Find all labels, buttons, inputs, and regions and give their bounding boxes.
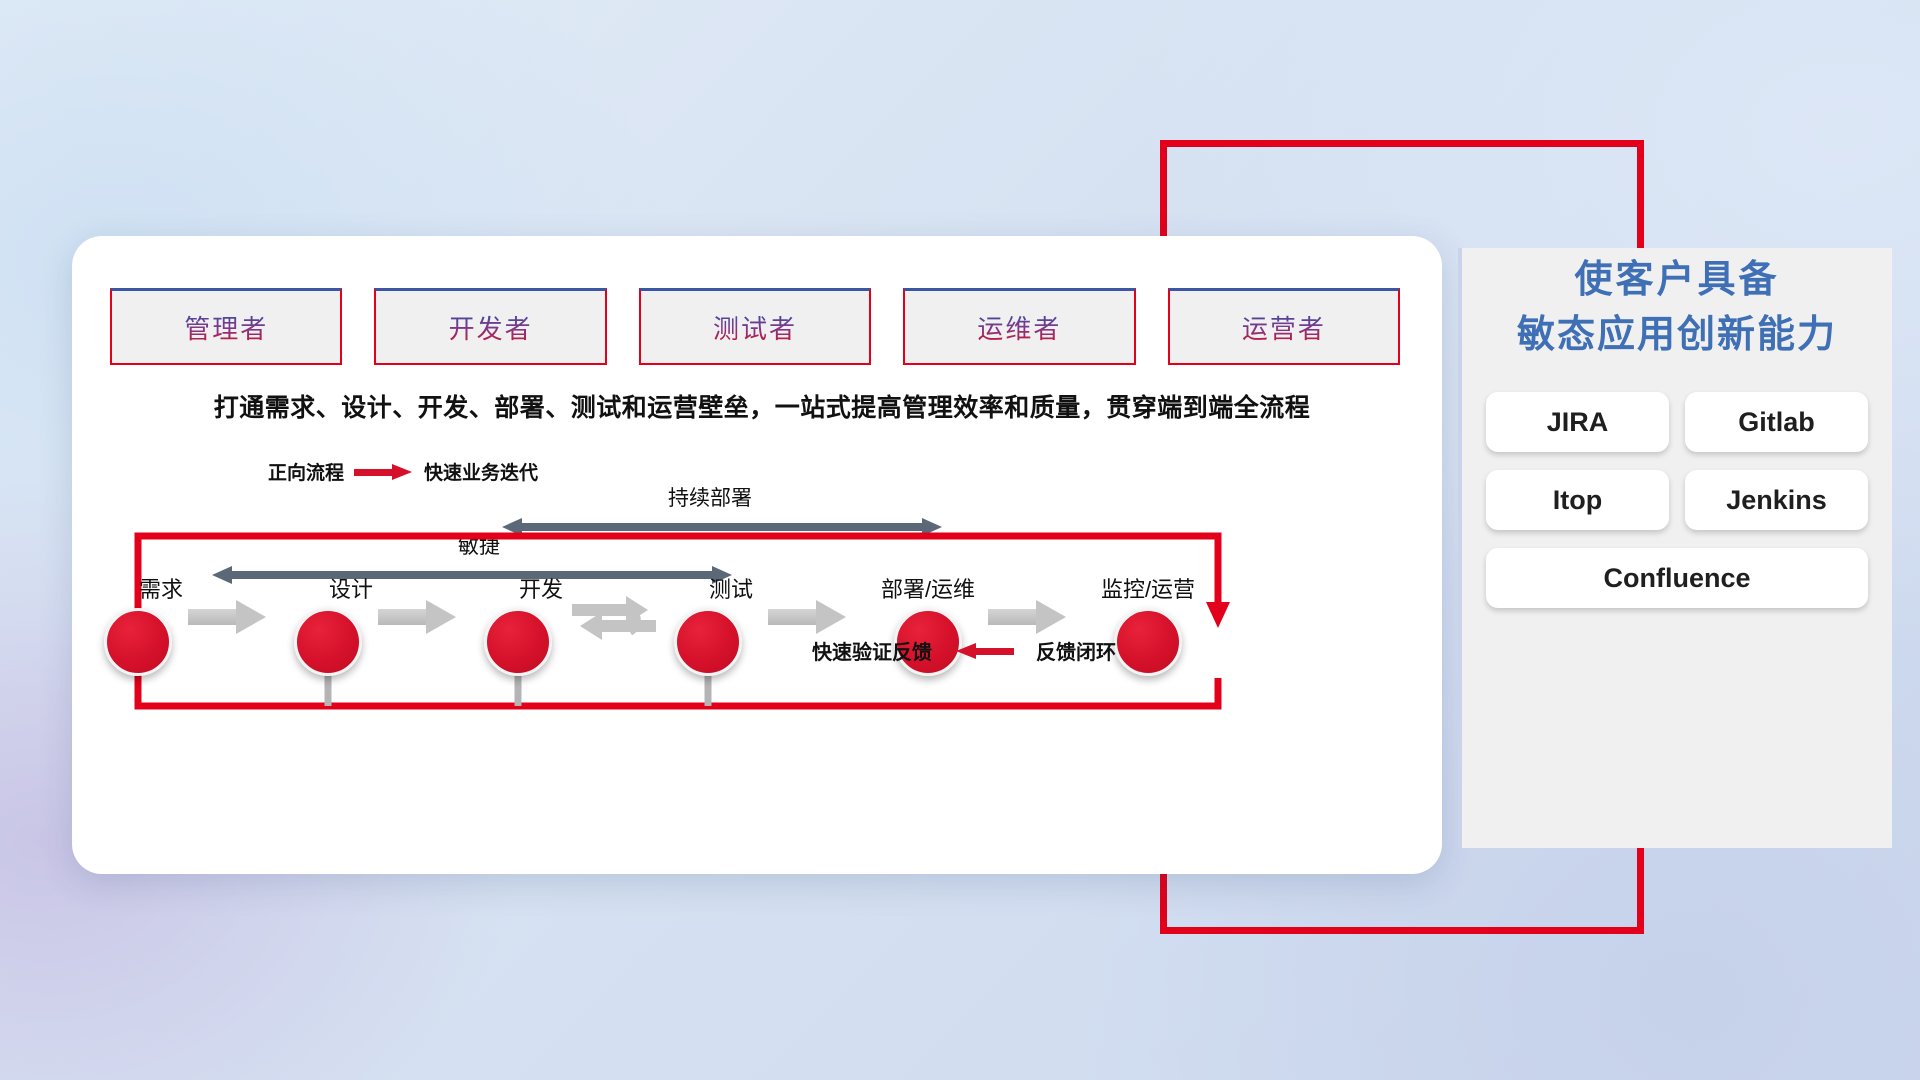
devops-flow-card: 管理者 开发者 测试者 运维者 运营者 打通需求、设计、开发、部署、测试和运营壁… <box>72 236 1442 874</box>
tool-chip-list: JIRA Gitlab Itop Jenkins Confluence <box>1462 392 1892 608</box>
stage-label: 测试 <box>709 572 753 604</box>
arrow-right-gray-icon-4 <box>988 600 1066 634</box>
tool-chip-gitlab[interactable]: Gitlab <box>1685 392 1868 452</box>
panel-headline-line1: 使客户具备 <box>1462 248 1892 303</box>
role-box-operations[interactable]: 运营者 <box>1168 288 1400 365</box>
stage-dot <box>294 608 362 676</box>
span-label-continuous-deploy: 持续部署 <box>668 482 752 512</box>
loop-arrow-gray-icon <box>568 588 660 650</box>
feedback-left-label: 快速验证反馈 <box>812 636 932 665</box>
span-arrow-continuous-deploy <box>502 518 942 536</box>
arrow-right-red-icon <box>354 464 414 480</box>
role-label: 测试者 <box>713 309 797 346</box>
description-text: 打通需求、设计、开发、部署、测试和运营壁垒，一站式提高管理效率和质量，贯穿端到端… <box>112 388 1412 424</box>
stage-testing[interactable]: 测试 <box>663 572 753 676</box>
role-box-manager[interactable]: 管理者 <box>110 288 342 365</box>
stage-development[interactable]: 开发 <box>473 572 563 676</box>
role-box-tester[interactable]: 测试者 <box>639 288 871 365</box>
arrow-right-gray-icon-1 <box>188 600 266 634</box>
stage-label: 需求 <box>139 572 183 604</box>
role-label: 管理者 <box>184 309 268 346</box>
tool-chip-jira[interactable]: JIRA <box>1486 392 1669 452</box>
stage-dot <box>1114 608 1182 676</box>
role-box-ops[interactable]: 运维者 <box>903 288 1135 365</box>
value-proposition-panel: 使客户具备 敏态应用创新能力 JIRA Gitlab Itop Jenkins … <box>1458 248 1892 848</box>
stage-design[interactable]: 设计 <box>283 572 373 676</box>
tool-chip-itop[interactable]: Itop <box>1486 470 1669 530</box>
arrow-right-gray-icon-3 <box>768 600 846 634</box>
tool-chip-confluence[interactable]: Confluence <box>1486 548 1868 608</box>
stage-label: 部署/运维 <box>881 572 975 604</box>
forward-flow-legend: 正向流程 快速业务迭代 <box>268 458 538 485</box>
tool-chip-jenkins[interactable]: Jenkins <box>1685 470 1868 530</box>
stage-dot <box>674 608 742 676</box>
role-box-developer[interactable]: 开发者 <box>374 288 606 365</box>
arrow-left-red-icon <box>954 643 1014 659</box>
span-label-agile: 敏捷 <box>458 530 500 560</box>
stage-dot <box>484 608 552 676</box>
stage-label: 设计 <box>329 572 373 604</box>
stage-label: 开发 <box>519 572 563 604</box>
forward-flow-right-label: 快速业务迭代 <box>424 458 538 485</box>
role-label: 开发者 <box>449 309 533 346</box>
stage-monitor-operations[interactable]: 监控/运营 <box>1103 572 1193 676</box>
stage-requirement[interactable]: 需求 <box>93 572 183 676</box>
panel-headline-line2: 敏态应用创新能力 <box>1462 303 1892 358</box>
feedback-right-label: 反馈闭环 <box>1036 636 1116 665</box>
role-box-row: 管理者 开发者 测试者 运维者 运营者 <box>110 288 1400 365</box>
role-label: 运维者 <box>977 309 1061 346</box>
stage-dot <box>104 608 172 676</box>
arrow-right-gray-icon-2 <box>378 600 456 634</box>
stage-label: 监控/运营 <box>1101 572 1195 604</box>
feedback-loop-legend: 快速验证反馈 反馈闭环 <box>812 636 1116 665</box>
role-label: 运营者 <box>1242 309 1326 346</box>
forward-flow-left-label: 正向流程 <box>268 458 344 485</box>
